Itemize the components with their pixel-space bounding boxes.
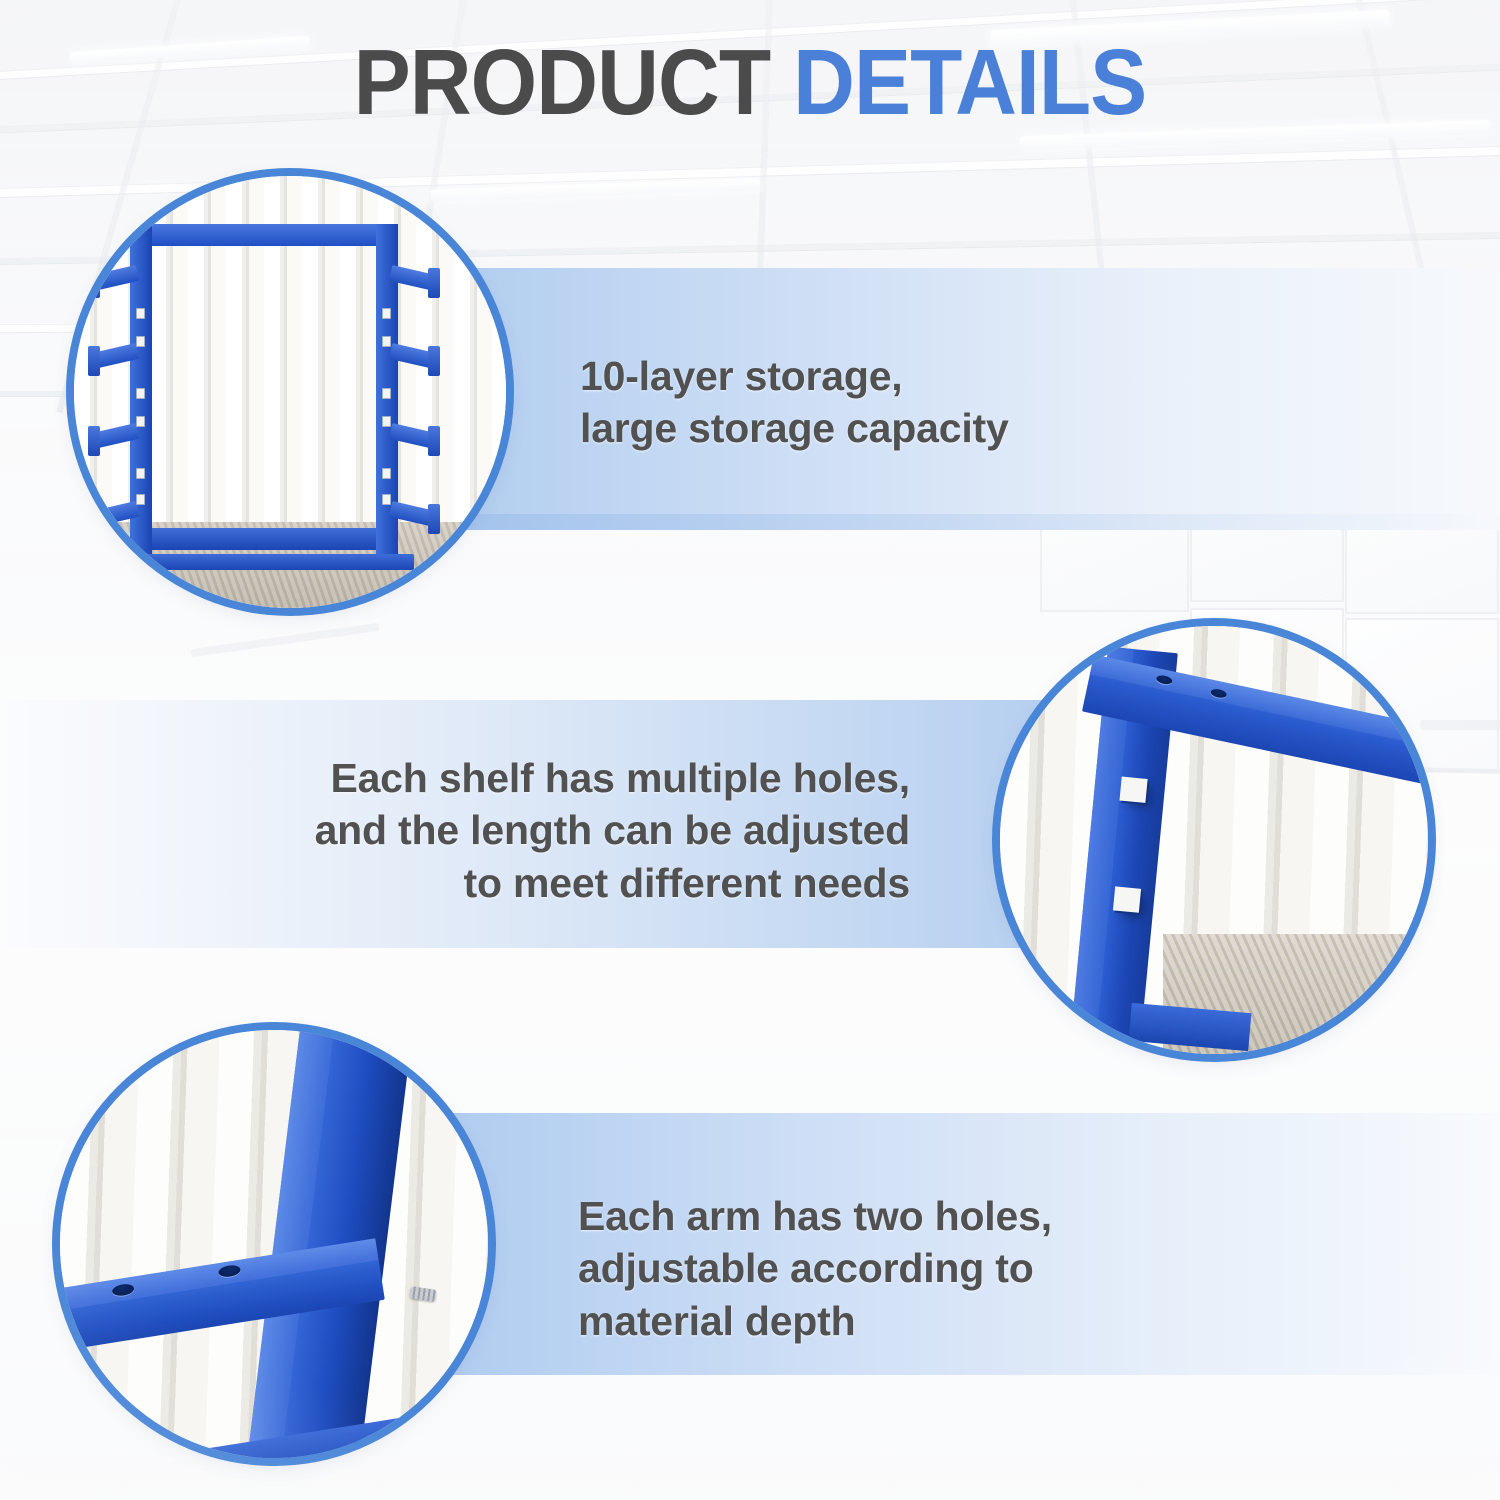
rack-base-rail [114, 554, 414, 570]
feature-1-caption-line: 10-layer storage, [580, 350, 1009, 402]
feature-3-caption: Each arm has two holes, adjustable accor… [578, 1190, 1052, 1347]
post-slot [382, 416, 391, 427]
feature-3-caption-line: Each arm has two holes, [578, 1190, 1052, 1242]
feature-1-caption: 10-layer storage, large storage capacity [580, 350, 1009, 455]
post-slot [382, 468, 391, 479]
post-slot [136, 308, 145, 319]
feature-3-caption-line: material depth [578, 1295, 1052, 1347]
rack-top-beam [130, 224, 398, 246]
post-slot [382, 388, 391, 399]
post-square-hole [1119, 777, 1147, 803]
rack-arm-tip-left [88, 504, 100, 534]
rack-arm-tip-right [428, 268, 440, 298]
page-title-product: PRODUCT [354, 30, 771, 134]
infographic-canvas: PRODUCT DETAILS 10-layer storage, large … [0, 0, 1500, 1500]
feature-1-photo-circle [74, 176, 506, 608]
page-title: PRODUCT DETAILS [60, 36, 1440, 129]
feature-2-caption: Each shelf has multiple holes, and the l… [150, 752, 910, 909]
feature-2-caption-line: Each shelf has multiple holes, [150, 752, 910, 804]
post-slot [136, 494, 145, 505]
feature-2-caption-line: and the length can be adjusted [150, 804, 910, 856]
post-slot [382, 308, 391, 319]
feature-1-caption-line: large storage capacity [580, 402, 1009, 454]
post-slot [136, 336, 145, 347]
rack-arm-tip-left [88, 426, 100, 456]
arm-two-holes-closeup-image [60, 1030, 488, 1458]
feature-3-photo-circle [60, 1030, 488, 1458]
cantilever-rack-front-view-image [74, 176, 506, 608]
post-slot [136, 388, 145, 399]
page-title-details: DETAILS [793, 30, 1146, 134]
rack-arm-tip-left [88, 346, 100, 376]
rack-arm-tip-left [88, 268, 100, 298]
post-slot [136, 468, 145, 479]
rack-arm-tip-right [428, 504, 440, 534]
rack-arm-tip-right [428, 426, 440, 456]
feature-2-caption-line: to meet different needs [150, 857, 910, 909]
post-slot [382, 336, 391, 347]
feature-2-photo-circle [1000, 626, 1428, 1054]
feature-3-caption-line: adjustable according to [578, 1242, 1052, 1294]
post-square-hole [1113, 886, 1141, 912]
shelf-post-square-holes-closeup-image [1000, 626, 1428, 1054]
post-slot [382, 494, 391, 505]
rack-arm-tip-right [428, 346, 440, 376]
post-slot [136, 416, 145, 427]
rack-bottom-beam [130, 528, 398, 550]
